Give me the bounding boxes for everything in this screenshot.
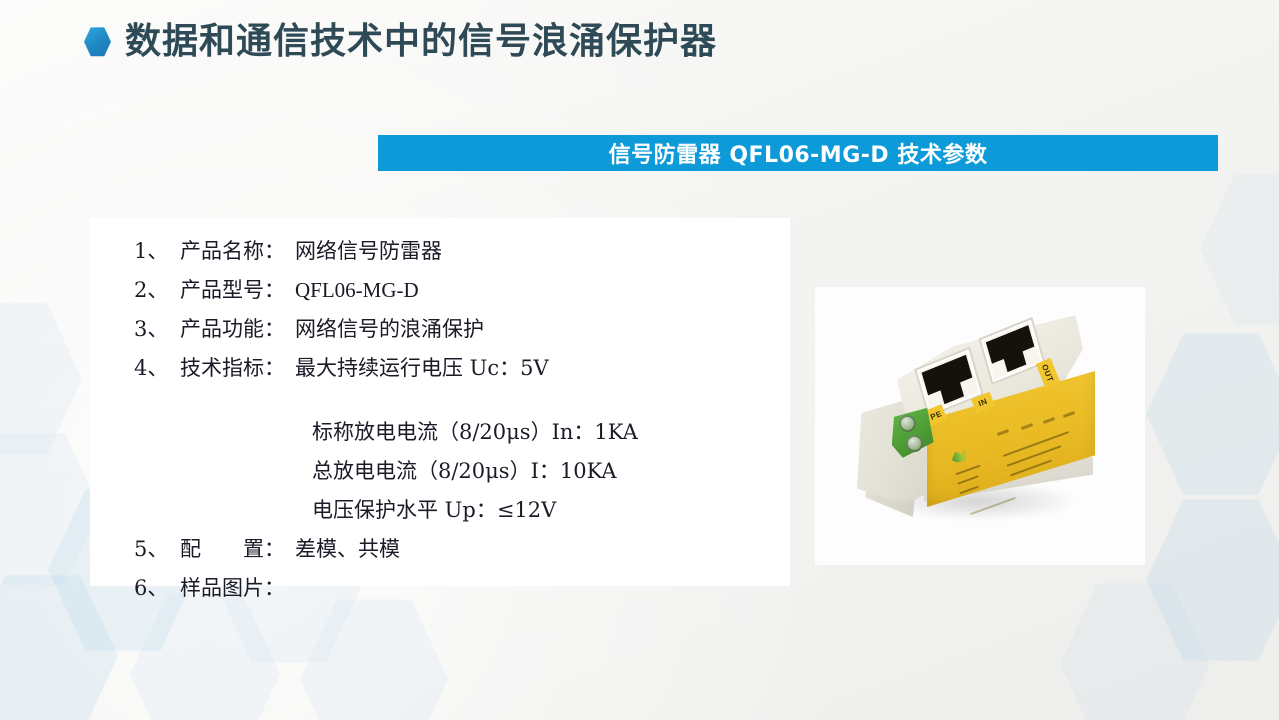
spec-label: 配 置： <box>180 530 285 569</box>
spec-row-technical-index: 4、 技术指标： 最大持续运行电压 Uc：5V <box>134 349 780 388</box>
specification-card: 1、 产品名称： 网络信号防雷器 2、 产品型号： QFL06-MG-D 3、 … <box>90 218 790 586</box>
specification-list: 1、 产品名称： 网络信号防雷器 2、 产品型号： QFL06-MG-D 3、 … <box>134 232 780 608</box>
spec-row-configuration: 5、 配 置： 差模、共模 <box>134 530 780 569</box>
spec-value: QFL06-MG-D <box>295 271 419 310</box>
spec-value: 网络信号防雷器 <box>295 232 442 271</box>
spec-index: 6、 <box>134 569 180 608</box>
background-hexagon <box>130 590 280 720</box>
background-hexagon <box>1146 496 1279 664</box>
spec-row-voltage-protection-level: 电压保护水平 Up：≤12V <box>134 491 780 530</box>
terminal-screw <box>906 435 923 452</box>
spec-row-model: 2、 产品型号： QFL06-MG-D <box>134 271 780 310</box>
spec-index: 2、 <box>134 271 180 310</box>
surge-protector-device: OUT IN PE <box>851 309 1121 541</box>
spec-row-sample-photo: 6、 样品图片： <box>134 569 780 608</box>
background-hexagon <box>1200 170 1279 328</box>
spec-label: 产品功能： <box>180 310 285 349</box>
page-title: 数据和通信技术中的信号浪涌保护器 <box>125 22 717 62</box>
spec-index: 1、 <box>134 232 180 271</box>
hexagon-bullet-icon <box>84 27 111 57</box>
spec-value: 总放电电流（8/20μs）I：10KA <box>312 452 617 491</box>
section-banner-title: 信号防雷器 QFL06-MG-D 技术参数 <box>609 137 988 169</box>
spec-index: 3、 <box>134 310 180 349</box>
spec-label: 样品图片： <box>180 569 285 608</box>
background-hexagon <box>1060 580 1210 720</box>
product-photo-image: OUT IN PE <box>815 287 1145 565</box>
section-banner: 信号防雷器 QFL06-MG-D 技术参数 <box>378 135 1218 171</box>
spec-row-total-discharge-current: 总放电电流（8/20μs）I：10KA <box>134 452 780 491</box>
spec-row-function: 3、 产品功能： 网络信号的浪涌保护 <box>134 310 780 349</box>
spec-value: 最大持续运行电压 Uc：5V <box>295 349 549 388</box>
background-hexagon <box>1146 330 1279 498</box>
slide-canvas: 数据和通信技术中的信号浪涌保护器 信号防雷器 QFL06-MG-D 技术参数 1… <box>0 0 1279 720</box>
spec-label: 产品名称： <box>180 232 285 271</box>
spec-row-product-name: 1、 产品名称： 网络信号防雷器 <box>134 232 780 271</box>
spec-value: 标称放电电流（8/20μs）In：1KA <box>312 413 638 452</box>
rj45-jack-opening <box>921 355 976 410</box>
spec-row-nominal-discharge-current: 标称放电电流（8/20μs）In：1KA <box>134 413 780 452</box>
spec-index: 5、 <box>134 530 180 569</box>
background-hexagon <box>0 300 82 458</box>
spec-value: 差模、共模 <box>295 530 400 569</box>
spec-value: 网络信号的浪涌保护 <box>295 310 484 349</box>
page-title-row: 数据和通信技术中的信号浪涌保护器 <box>84 22 717 62</box>
background-hexagon <box>0 572 118 720</box>
spec-value: 电压保护水平 Up：≤12V <box>312 491 556 530</box>
background-hexagon <box>300 596 448 720</box>
spec-label: 产品型号： <box>180 271 285 310</box>
background-hexagon <box>0 430 100 588</box>
rj45-jack-opening <box>986 325 1039 377</box>
spec-index: 4、 <box>134 349 180 388</box>
product-photo-card: OUT IN PE <box>815 287 1145 565</box>
spec-label: 技术指标： <box>180 349 285 388</box>
terminal-screw <box>899 415 916 432</box>
